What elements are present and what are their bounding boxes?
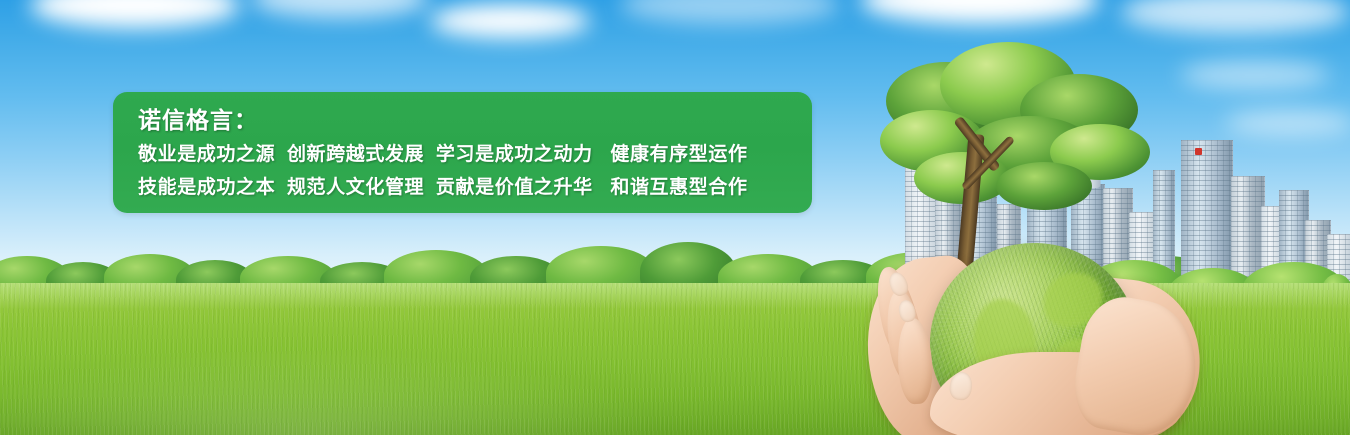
motto-line-2: 技能是成功之本 规范人文化管理 贡献是价值之升华 和谐互惠型合作	[138, 171, 794, 204]
cloud-icon	[1180, 60, 1330, 90]
motto-panel: 诺信格言： 敬业是成功之源 创新跨越式发展 学习是成功之动力 健康有序型运作 技…	[113, 92, 812, 213]
tree-canopy	[996, 162, 1092, 210]
motto-line-1: 敬业是成功之源 创新跨越式发展 学习是成功之动力 健康有序型运作	[138, 138, 794, 171]
hero-banner: 诺信格言： 敬业是成功之源 创新跨越式发展 学习是成功之动力 健康有序型运作 技…	[0, 0, 1350, 435]
cloud-icon	[430, 4, 590, 38]
motto-panel-content: 诺信格言： 敬业是成功之源 创新跨越式发展 学习是成功之动力 健康有序型运作 技…	[138, 105, 794, 203]
panel-title: 诺信格言：	[138, 105, 794, 135]
